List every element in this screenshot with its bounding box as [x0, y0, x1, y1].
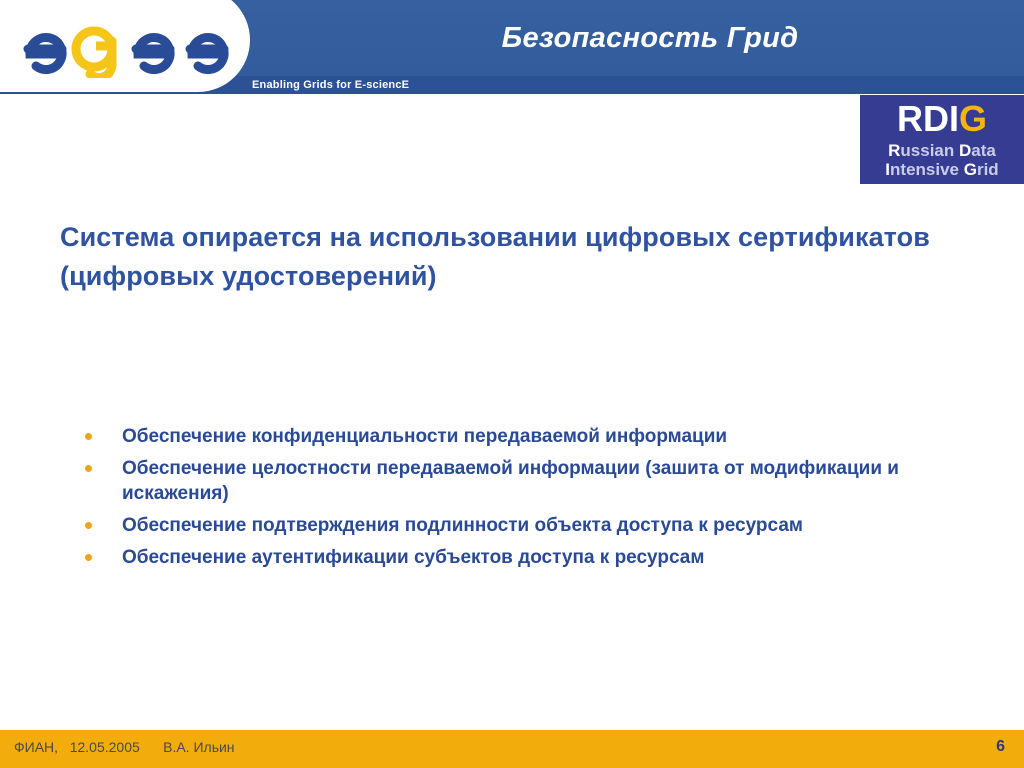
- egee-logo-icon: [16, 16, 242, 78]
- rdig-line1-rest2: ata: [971, 141, 996, 160]
- rdig-line1-rest: ussian: [900, 141, 959, 160]
- list-item-text: Обеспечение подтверждения подлинности об…: [122, 515, 803, 536]
- list-item-text: Обеспечение целостности передаваемой инф…: [122, 458, 899, 504]
- footer-attribution: ФИАН, 12.05.2005 В.А. Ильин: [14, 739, 235, 755]
- rdig-line1-cap-d: D: [959, 141, 971, 160]
- rdig-logo: RDIG Russian Data Intensive Grid: [860, 95, 1024, 184]
- bullet-dot-icon: [85, 433, 92, 440]
- list-item: Обеспечение подтверждения подлинности об…: [78, 513, 968, 538]
- list-item: Обеспечение целостности передаваемой инф…: [78, 456, 968, 506]
- list-item: Обеспечение аутентификации субъектов дос…: [78, 545, 968, 570]
- list-item-text: Обеспечение конфиденциальности передавае…: [122, 426, 727, 447]
- rdig-line2-rest: ntensive: [890, 160, 964, 179]
- rdig-subtitle-line2: Intensive Grid: [860, 159, 1024, 180]
- rdig-line2-rest2: rid: [977, 160, 999, 179]
- content-heading: Система опирается на использовании цифро…: [60, 218, 960, 296]
- rdig-acronym: RDIG: [860, 98, 1024, 140]
- page-number: 6: [996, 738, 1005, 756]
- rdig-acronym-gold: G: [959, 98, 987, 139]
- rdig-line2-cap-g: G: [964, 160, 977, 179]
- bullet-list: Обеспечение конфиденциальности передавае…: [78, 424, 968, 577]
- bullet-dot-icon: [85, 465, 92, 472]
- list-item-text: Обеспечение аутентификации субъектов дос…: [122, 547, 704, 568]
- list-item: Обеспечение конфиденциальности передавае…: [78, 424, 968, 449]
- slide-title: Безопасность Грид: [300, 0, 1000, 76]
- slide-header: Безопасность Грид Enabling Grids for E-s…: [0, 0, 1024, 94]
- rdig-subtitle-line1: Russian Data: [860, 140, 1024, 161]
- egee-tagline: Enabling Grids for E-sciencE: [252, 77, 409, 94]
- bullet-dot-icon: [85, 554, 92, 561]
- slide-footer: ФИАН, 12.05.2005 В.А. Ильин 6: [0, 730, 1024, 768]
- bullet-dot-icon: [85, 522, 92, 529]
- rdig-line1-cap-r: R: [888, 141, 900, 160]
- rdig-acronym-white: RDI: [897, 98, 959, 139]
